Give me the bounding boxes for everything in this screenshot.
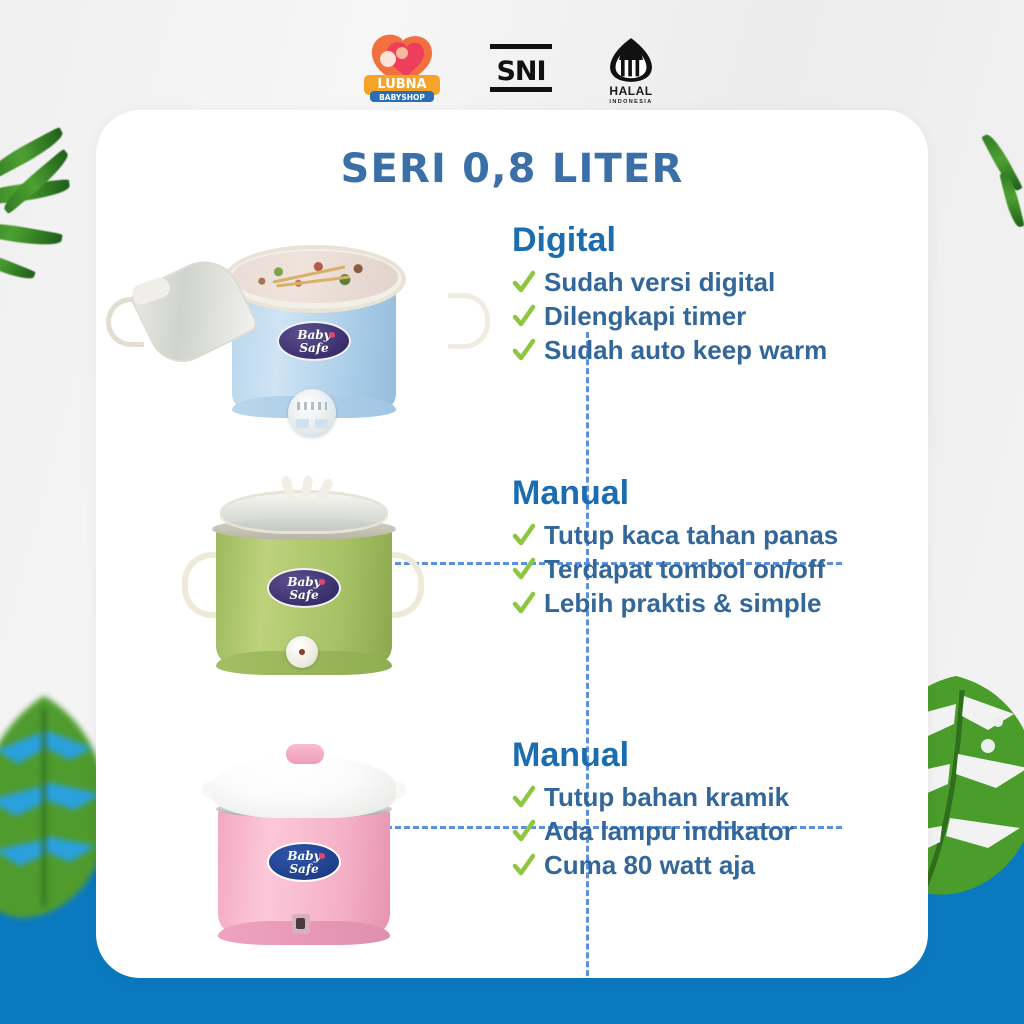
- feature-item: Sudah auto keep warm: [512, 333, 928, 367]
- feature-label: Ada lampu indikator: [544, 814, 794, 848]
- feature-item: Sudah versi digital: [512, 265, 928, 299]
- halal-mark-icon: [601, 35, 661, 85]
- feature-label: Cuma 80 watt aja: [544, 848, 755, 882]
- feature-label: Terdapat tombol on/off: [544, 552, 825, 586]
- halal-wordmark: HALAL: [609, 85, 652, 97]
- lid-knob: [286, 744, 324, 764]
- feature-text-cell-manual-pink: Manual Tutup bahan kramik Ada lampu indi…: [490, 730, 928, 978]
- feature-heading-digital: Digital: [512, 223, 928, 259]
- check-icon: [512, 338, 536, 362]
- product-image-cell-pink: Baby Safe: [96, 730, 490, 978]
- blue-digital-slow-cooker-image: Baby Safe: [136, 223, 456, 438]
- feature-item: Lebih praktis & simple: [512, 586, 928, 620]
- sni-wordmark: SNI: [496, 56, 545, 87]
- green-manual-slow-cooker-image: Baby Safe: [168, 474, 438, 689]
- feature-label: Sudah auto keep warm: [544, 333, 827, 367]
- check-icon: [512, 270, 536, 294]
- baby-safe-badge: Baby Safe: [267, 842, 341, 882]
- lubna-wordmark: LUBNA: [377, 77, 426, 92]
- pink-manual-slow-cooker-image: Baby Safe: [174, 736, 434, 951]
- badge-dot-icon: [319, 853, 325, 859]
- porridge-food-content: [232, 251, 398, 303]
- cooker-handle-right: [448, 293, 490, 349]
- feature-item: Tutup bahan kramik: [512, 780, 928, 814]
- check-icon: [512, 785, 536, 809]
- check-icon: [512, 557, 536, 581]
- check-icon: [512, 523, 536, 547]
- product-image-cell-green: Baby Safe: [96, 468, 490, 718]
- product-info-card: SERI 0,8 LITER Baby Safe: [96, 110, 928, 978]
- feature-item: Cuma 80 watt aja: [512, 848, 928, 882]
- feature-list-digital: Sudah versi digital Dilengkapi timer Sud…: [512, 265, 928, 368]
- page-title: SERI 0,8 LITER: [96, 146, 928, 192]
- feature-item: Terdapat tombol on/off: [512, 552, 928, 586]
- certification-logo-bar: LUBNA BABYSHOP SNI HALAL INDONESIA: [0, 28, 1024, 108]
- feature-label: Sudah versi digital: [544, 265, 775, 299]
- indicator-switch: [292, 914, 310, 934]
- feature-item: Ada lampu indikator: [512, 814, 928, 848]
- product-row-manual-green: Baby Safe Manual Tutup kaca tahan panas: [96, 468, 928, 718]
- product-row-digital: Baby Safe Digital: [96, 215, 928, 455]
- feature-list-manual-pink: Tutup bahan kramik Ada lampu indikator C…: [512, 780, 928, 883]
- badge-dot-icon: [319, 579, 325, 585]
- badge-dot-icon: [329, 332, 335, 338]
- feature-label: Lebih praktis & simple: [544, 586, 821, 620]
- feature-text-cell-manual-green: Manual Tutup kaca tahan panas Terdapat t…: [490, 468, 928, 718]
- feature-heading-manual-green: Manual: [512, 476, 928, 512]
- feature-label: Dilengkapi timer: [544, 299, 746, 333]
- feature-label: Tutup kaca tahan panas: [544, 518, 838, 552]
- check-icon: [512, 853, 536, 877]
- check-icon: [512, 819, 536, 843]
- baby-safe-badge: Baby Safe: [277, 321, 351, 361]
- ceramic-dome-lid: [212, 756, 396, 818]
- sni-logo: SNI: [488, 40, 554, 96]
- halal-indonesia-logo: HALAL INDONESIA: [598, 31, 664, 105]
- feature-text-cell-digital: Digital Sudah versi digital Dilengkapi t…: [490, 215, 928, 455]
- baby-safe-badge: Baby Safe: [267, 568, 341, 608]
- feature-item: Dilengkapi timer: [512, 299, 928, 333]
- lubna-babyshop-logo: LUBNA BABYSHOP: [360, 31, 444, 105]
- feature-label: Tutup bahan kramik: [544, 780, 789, 814]
- on-off-knob: [286, 636, 318, 668]
- feature-item: Tutup kaca tahan panas: [512, 518, 928, 552]
- feature-list-manual-green: Tutup kaca tahan panas Terdapat tombol o…: [512, 518, 928, 621]
- feature-heading-manual-pink: Manual: [512, 738, 928, 774]
- product-row-manual-pink: Baby Safe Manual Tutup bahan kramik: [96, 730, 928, 978]
- digital-control-panel: [288, 389, 336, 437]
- babyshop-wordmark: BABYSHOP: [379, 93, 425, 102]
- halal-sub-wordmark: INDONESIA: [609, 99, 652, 105]
- product-image-cell-blue: Baby Safe: [96, 215, 490, 455]
- check-icon: [512, 591, 536, 615]
- check-icon: [512, 304, 536, 328]
